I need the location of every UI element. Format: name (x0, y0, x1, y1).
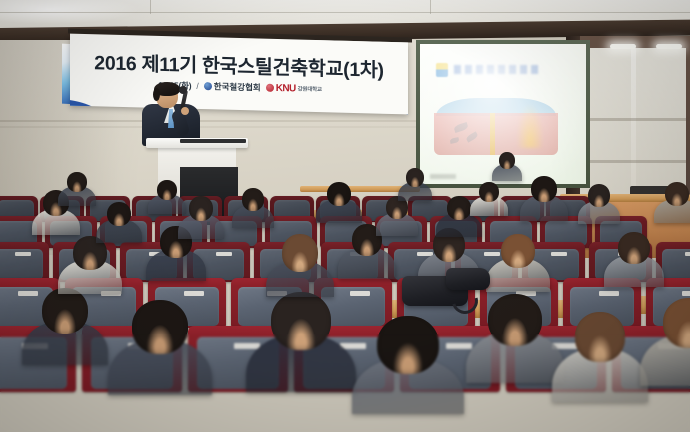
attendee (58, 172, 96, 212)
attendee (604, 232, 664, 296)
organizer-knu-sublabel: 강원대학교 (298, 85, 322, 94)
attendee-head (406, 168, 424, 187)
seat-number-plate (15, 252, 31, 256)
event-banner: 2016 제11기 한국스틸건축학교(1차) .10.25(화) / 한국철강협… (70, 34, 408, 115)
attendee-head (189, 196, 213, 221)
attendee-head (107, 202, 131, 226)
attendee (486, 234, 550, 302)
attendee (578, 184, 620, 230)
downlight-icon (656, 44, 682, 49)
speaker (142, 84, 206, 144)
attendee-head (377, 316, 439, 374)
attendee (108, 300, 212, 410)
seat-number-plate (685, 252, 690, 256)
organizer-kosa-label: 한국철강협회 (214, 80, 261, 93)
attendee-head (588, 184, 610, 207)
seat-number-plate (216, 252, 232, 256)
attendee (316, 182, 362, 230)
attendee-head (575, 312, 625, 362)
microphone-head-icon (179, 86, 187, 94)
downlight-icon (610, 44, 636, 49)
organizer-knu: KNU 강원대학교 (266, 82, 322, 94)
attendee (148, 180, 186, 220)
lecture-hall-photo: 2016 제11기 한국스틸건축학교(1차) .10.25(화) / 한국철강협… (0, 0, 690, 432)
attendee (466, 294, 564, 398)
ceiling-panel-seam (430, 0, 431, 14)
seat-number-plate (682, 291, 690, 296)
attendee (96, 202, 142, 250)
attendee-head (242, 188, 264, 211)
attendee-head (157, 180, 177, 200)
attendee (640, 298, 690, 400)
attendee-head (327, 182, 351, 206)
attendee-head (618, 232, 650, 264)
attendee-head (499, 152, 515, 169)
lectern-top-panel (180, 139, 246, 143)
ceiling-panel-seam (0, 12, 690, 13)
seat-number-plate (551, 252, 567, 256)
attendee-head (282, 234, 318, 272)
attendee (470, 182, 508, 222)
attendee (266, 234, 334, 308)
organizer-kosa: 한국철강협회 (204, 80, 261, 93)
attendee-head (447, 196, 471, 220)
attendee (654, 182, 690, 230)
attendee (232, 188, 274, 234)
attendee (352, 316, 464, 430)
attendee-head (132, 300, 188, 354)
attendee-head (531, 176, 557, 202)
seat-number-plate (184, 291, 204, 296)
attendee (246, 292, 356, 408)
knu-emblem-icon (266, 84, 274, 92)
alcove-shelf (580, 118, 686, 121)
speaker-hair-side (153, 88, 160, 101)
attendee (492, 152, 522, 186)
speaker-hand (181, 107, 189, 115)
attendee-head (67, 172, 87, 192)
organizer-knu-label: KNU (276, 82, 296, 94)
attendee (520, 176, 568, 228)
auditorium-seat (0, 242, 49, 282)
black-backpack-top (446, 268, 490, 290)
attendee-head (665, 182, 689, 206)
lectern-top (146, 138, 248, 148)
attendee (398, 168, 432, 206)
alcove-shelf (580, 160, 686, 163)
ceiling-panel-seam (150, 0, 151, 14)
window-mullion (631, 48, 636, 208)
attendee (552, 312, 648, 416)
attendee-head (501, 234, 535, 268)
